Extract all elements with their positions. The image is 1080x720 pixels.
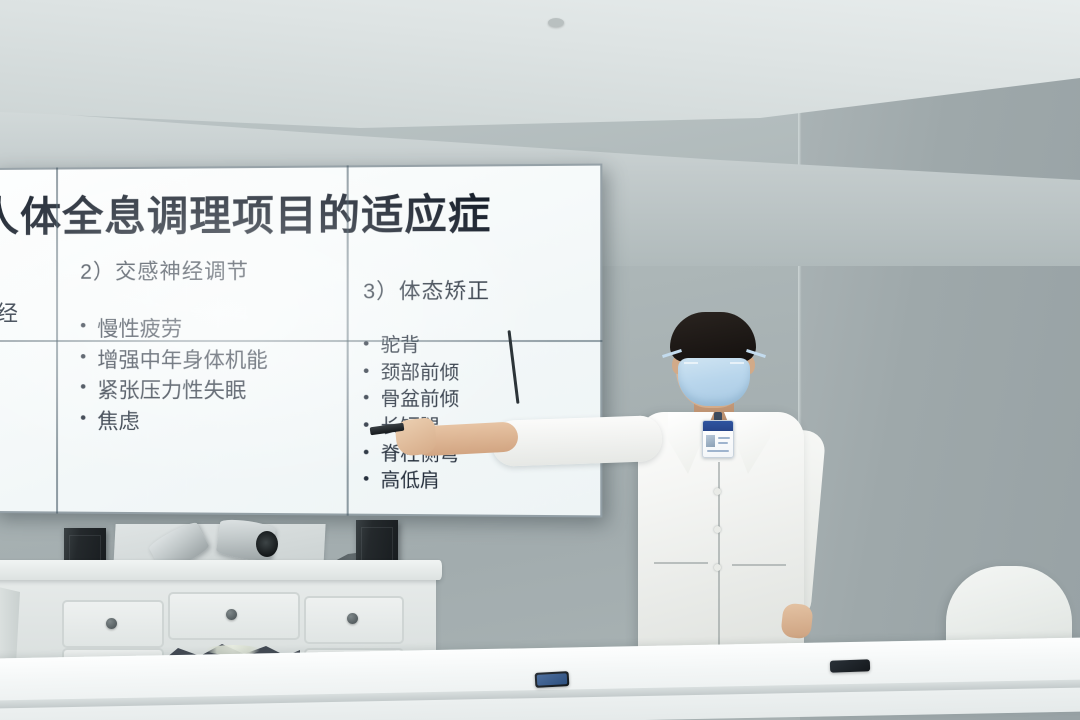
badge-photo [706, 435, 715, 447]
id-badge [702, 420, 734, 458]
presenter-hair [670, 312, 756, 362]
drawer-knob[interactable] [106, 618, 117, 629]
presenter-hand-left [780, 603, 813, 640]
badge-text-line [707, 450, 729, 452]
coat-pocket [654, 562, 708, 564]
coat-pocket [732, 564, 786, 566]
coat-button [714, 564, 721, 571]
camera-lens-icon [256, 531, 278, 557]
smoke-detector-icon [548, 18, 564, 27]
coat-button [714, 526, 721, 533]
coat-button [714, 488, 721, 495]
cabinet-top [0, 560, 442, 580]
badge-header [703, 421, 733, 431]
smartphone[interactable] [830, 659, 870, 672]
badge-text-line [718, 437, 730, 439]
drawer-knob[interactable] [226, 609, 237, 620]
drawer-knob[interactable] [347, 613, 358, 624]
surgical-mask [678, 358, 750, 406]
smartphone[interactable] [535, 671, 570, 688]
photo-scene: 人体全息调理项目的适应症 经 2）交感神经调节 慢性疲劳 增强中年身体机能 紧张… [0, 0, 1080, 720]
badge-text-line [718, 442, 728, 444]
presenter [632, 312, 812, 672]
